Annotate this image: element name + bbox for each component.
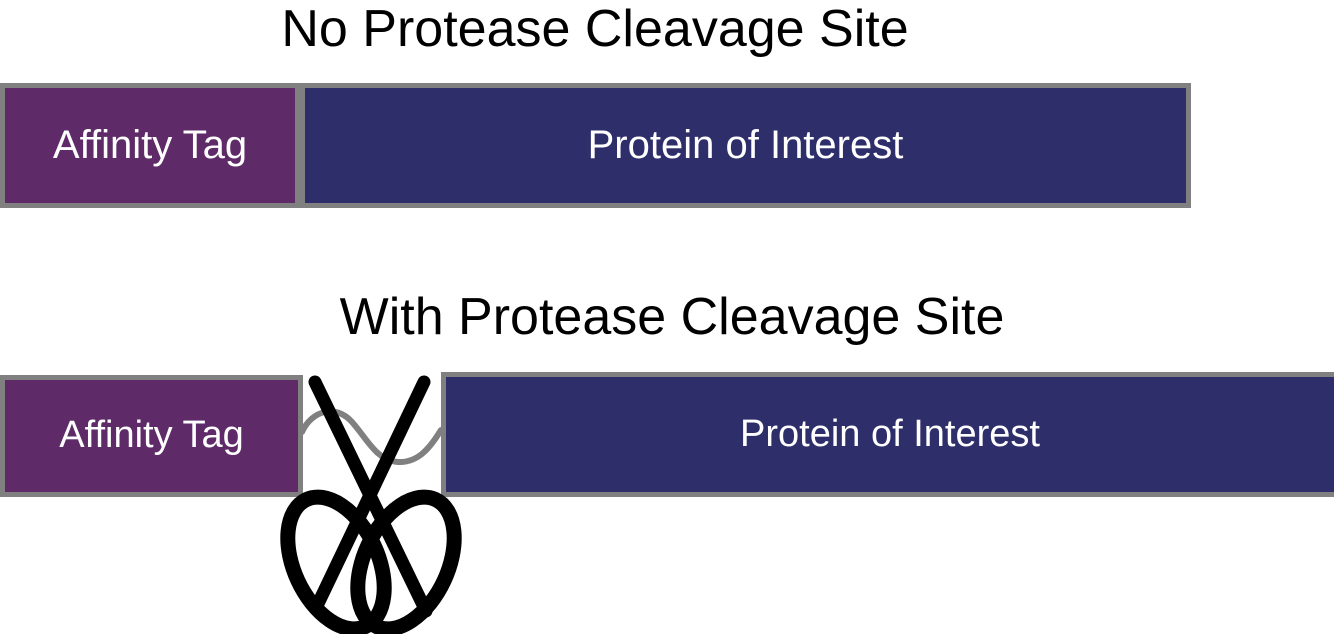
protein-of-interest-box-with-cleavage: Protein of Interest xyxy=(441,372,1334,497)
diagram-canvas: No Protease Cleavage Site Affinity Tag P… xyxy=(0,0,1334,634)
affinity-tag-box-with-cleavage: Affinity Tag xyxy=(0,375,303,497)
affinity-tag-label: Affinity Tag xyxy=(53,125,247,165)
affinity-tag-box-no-cleavage: Affinity Tag xyxy=(0,83,300,208)
panel-title-with-cleavage: With Protease Cleavage Site xyxy=(0,291,1334,343)
protein-of-interest-box-no-cleavage: Protein of Interest xyxy=(300,83,1191,208)
protein-of-interest-label: Protein of Interest xyxy=(740,415,1040,453)
affinity-tag-label: Affinity Tag xyxy=(59,416,244,454)
protein-of-interest-label: Protein of Interest xyxy=(588,125,904,165)
panel-title-no-cleavage: No Protease Cleavage Site xyxy=(0,3,1190,55)
